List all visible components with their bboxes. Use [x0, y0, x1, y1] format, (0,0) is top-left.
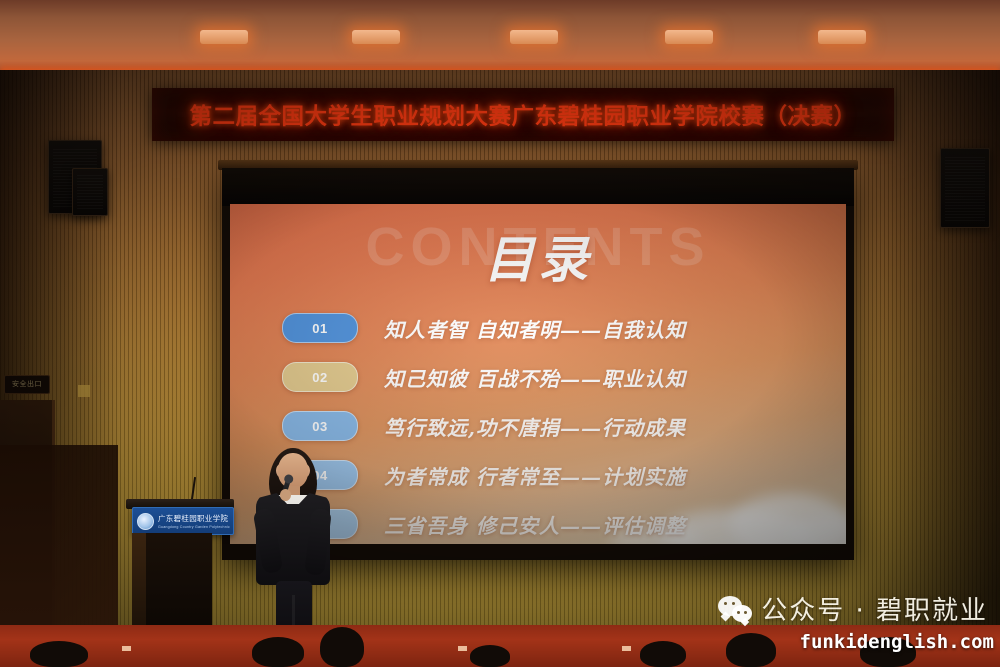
event-banner: 第二届全国大学生职业规划大赛广东碧桂园职业学院校赛（决赛） [152, 88, 894, 141]
contents-item: 03 笃行致远,功不唐捐——行动成果 [282, 402, 812, 450]
contents-item-label: 知人者智 自知者明——自我认知 [384, 314, 686, 343]
wechat-dot [744, 611, 747, 614]
watermark: 公众号 · 碧职就业 [718, 590, 988, 627]
ceiling-light-4 [665, 30, 713, 44]
university-emblem-icon [137, 513, 154, 530]
podium-side-panel [132, 533, 146, 625]
screen-valance [222, 168, 854, 206]
wechat-bubble-small [732, 605, 752, 622]
contents-number-badge: 03 [282, 411, 358, 441]
contents-item: 02 知己知彼 百战不殆——职业认知 [282, 353, 812, 401]
watermark-url: funkidenglish.com [800, 631, 994, 653]
contents-item-label: 三省吾身 修己安人——评估调整 [384, 510, 686, 539]
floor-marker [458, 646, 467, 651]
ceiling-light-3 [510, 30, 558, 44]
contents-item: 05 三省吾身 修己安人——评估调整 [282, 500, 812, 544]
podium-sign-text: 广东碧桂园职业学院 Guangdong Country Garden Polyt… [158, 513, 230, 529]
floor-marker [122, 646, 131, 651]
contents-item-label: 笃行致远,功不唐捐——行动成果 [384, 412, 686, 441]
event-banner-text: 第二届全国大学生职业规划大赛广东碧桂园职业学院校赛（决赛） [189, 99, 856, 131]
ceiling-light-2 [352, 30, 400, 44]
watermark-account-text: 公众号 · 碧职就业 [761, 590, 988, 627]
floor-marker [622, 646, 631, 651]
auditorium-scene: 安全出口 第二届全国大学生职业规划大赛广东碧桂园职业学院校赛（决赛） CONTE… [0, 0, 1000, 667]
contents-item: 01 知人者智 自知者明——自我认知 [282, 304, 812, 352]
contents-item-label: 知己知彼 百战不殆——职业认知 [384, 363, 686, 392]
wall-plate [78, 385, 90, 397]
podium-name-cn: 广东碧桂园职业学院 [158, 513, 230, 524]
slide-contents-list: 01 知人者智 自知者明——自我认知 02 知己知彼 百战不殆——职业认知 03… [282, 304, 812, 544]
podium-body [146, 533, 212, 625]
wechat-dot [724, 602, 727, 605]
slide-title: 目录 [230, 220, 846, 292]
exit-sign: 安全出口 [4, 375, 50, 394]
podium-name-en: Guangdong Country Garden Polytechnic [158, 525, 230, 529]
contents-number-badge: 01 [282, 313, 358, 343]
ceiling-light-5 [818, 30, 866, 44]
ceiling-light-1 [200, 30, 248, 44]
audience-head [320, 627, 364, 667]
contents-item-label: 为者常成 行者常至——计划实施 [384, 461, 686, 490]
wall-speaker-right [940, 148, 990, 228]
wechat-icon [718, 596, 752, 622]
wechat-dot [737, 611, 740, 614]
audience-head [640, 641, 686, 667]
presenter-hand [280, 489, 291, 501]
audience-head [470, 645, 510, 667]
podium: 广东碧桂园职业学院 Guangdong Country Garden Polyt… [132, 507, 228, 625]
wechat-dot [732, 602, 735, 605]
contents-number-badge: 02 [282, 362, 358, 392]
audience-head [252, 637, 304, 667]
wall-speaker-left-small [72, 168, 108, 216]
ceiling [0, 0, 1000, 78]
audience-head [30, 641, 88, 667]
presenter [236, 453, 348, 649]
audience-head [726, 633, 776, 667]
presenter-head [278, 453, 308, 488]
podium-sign: 广东碧桂园职业学院 Guangdong Country Garden Polyt… [132, 507, 234, 535]
contents-item: 04 为者常成 行者常至——计划实施 [282, 451, 812, 499]
stage-left-shadow [0, 445, 118, 625]
